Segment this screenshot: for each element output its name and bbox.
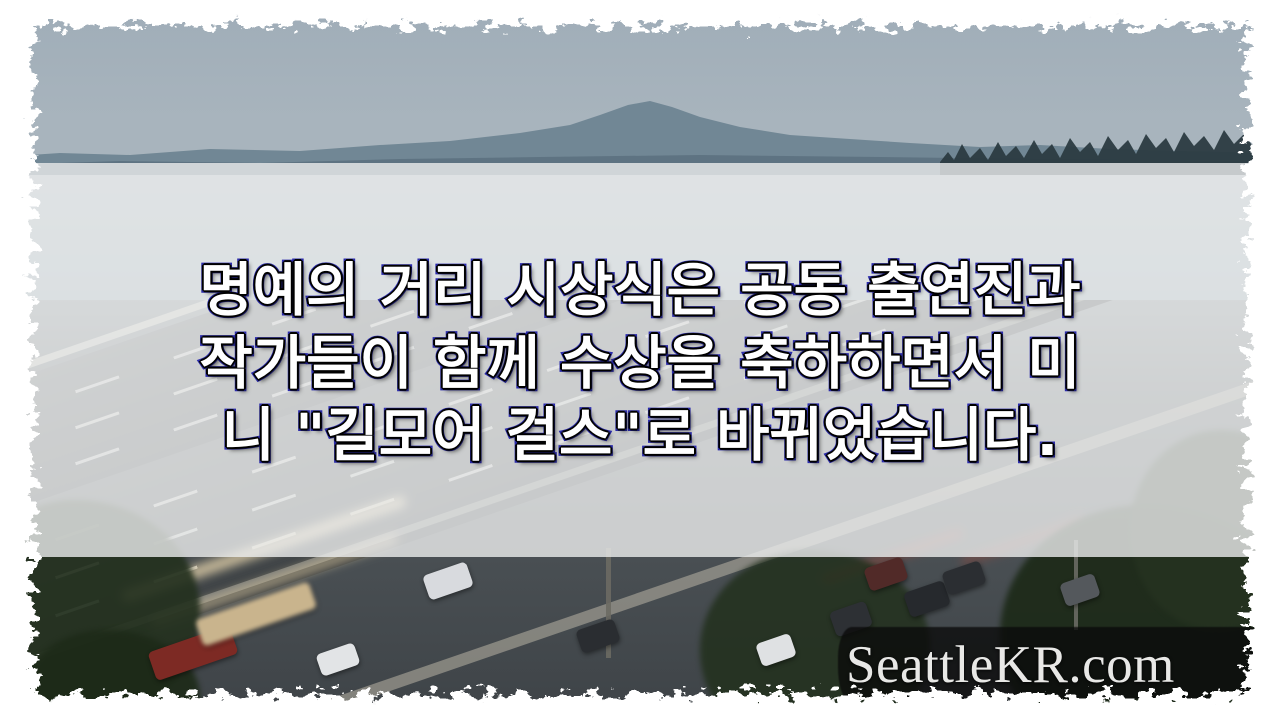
watermark-label: SeattleKR.com — [846, 636, 1266, 694]
vehicle — [903, 580, 951, 618]
caption-block: 명예의 거리 시상식은 공동 출연진과 작가들이 함께 수상을 축하하면서 미 … — [0, 178, 1280, 548]
vehicle — [315, 642, 360, 677]
image-canvas: 명예의 거리 시상식은 공동 출연진과 작가들이 함께 수상을 축하하면서 미 … — [0, 0, 1280, 720]
caption-line-3: 니 "길모어 걸스"로 바뀌었습니다. — [222, 401, 1059, 469]
caption-line-1: 명예의 거리 시상식은 공동 출연진과 — [199, 256, 1080, 324]
vehicle — [941, 560, 987, 596]
caption-line-2: 작가들이 함께 수상을 축하하면서 미 — [199, 329, 1080, 397]
vehicle — [422, 561, 474, 601]
